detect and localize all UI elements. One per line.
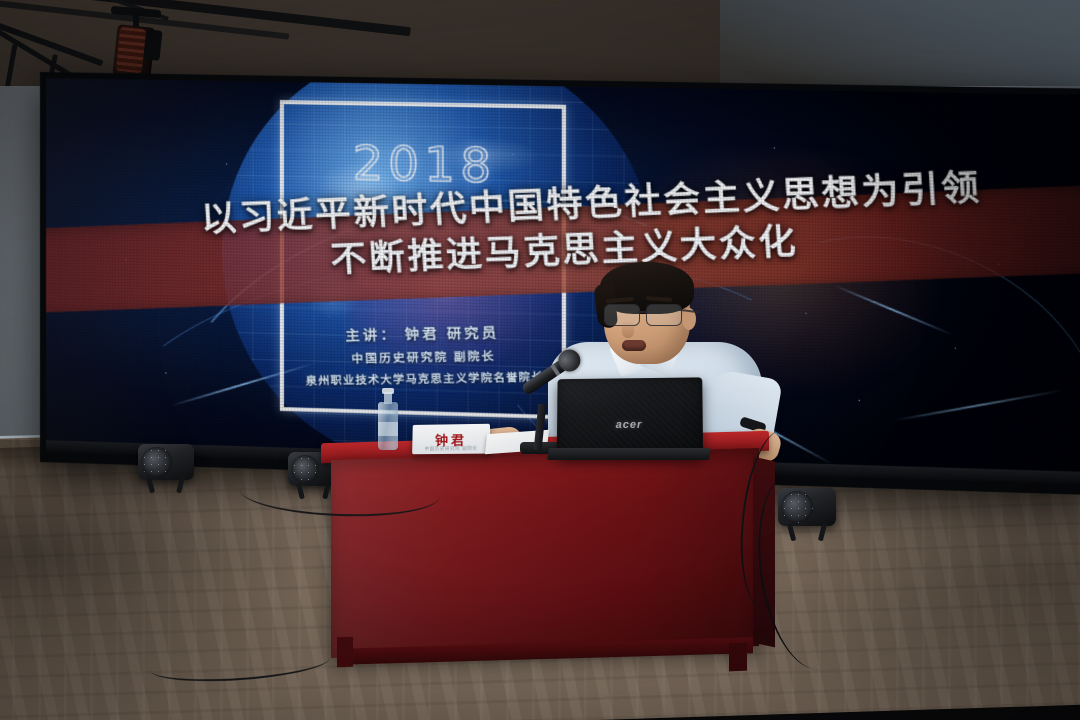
speaker-mouth bbox=[622, 340, 646, 351]
eyeglasses-icon bbox=[602, 304, 694, 326]
desk-foot-left bbox=[337, 637, 353, 668]
desk-foot-right bbox=[729, 643, 747, 672]
nameplate-subtitle: 中国历史研究院 副院长 bbox=[412, 446, 490, 453]
laptop-base bbox=[547, 448, 711, 460]
laptop-brand-logo: acer bbox=[616, 419, 643, 431]
speaker-nose bbox=[622, 320, 634, 338]
desk-nameplate: 钟君 中国历史研究院 副院长 bbox=[412, 424, 490, 454]
water-bottle-icon bbox=[378, 388, 398, 450]
photo-scene: 2018 以习近平新时代中国特色社会主义思想为引领 不断推进马克思主义大众化 主… bbox=[0, 0, 1080, 720]
par-light-icon bbox=[138, 444, 194, 480]
laptop-icon: acer bbox=[556, 378, 702, 456]
slide-presenter-title: 中国历史研究院 副院长 bbox=[270, 346, 579, 368]
lectern-desk bbox=[325, 437, 765, 682]
